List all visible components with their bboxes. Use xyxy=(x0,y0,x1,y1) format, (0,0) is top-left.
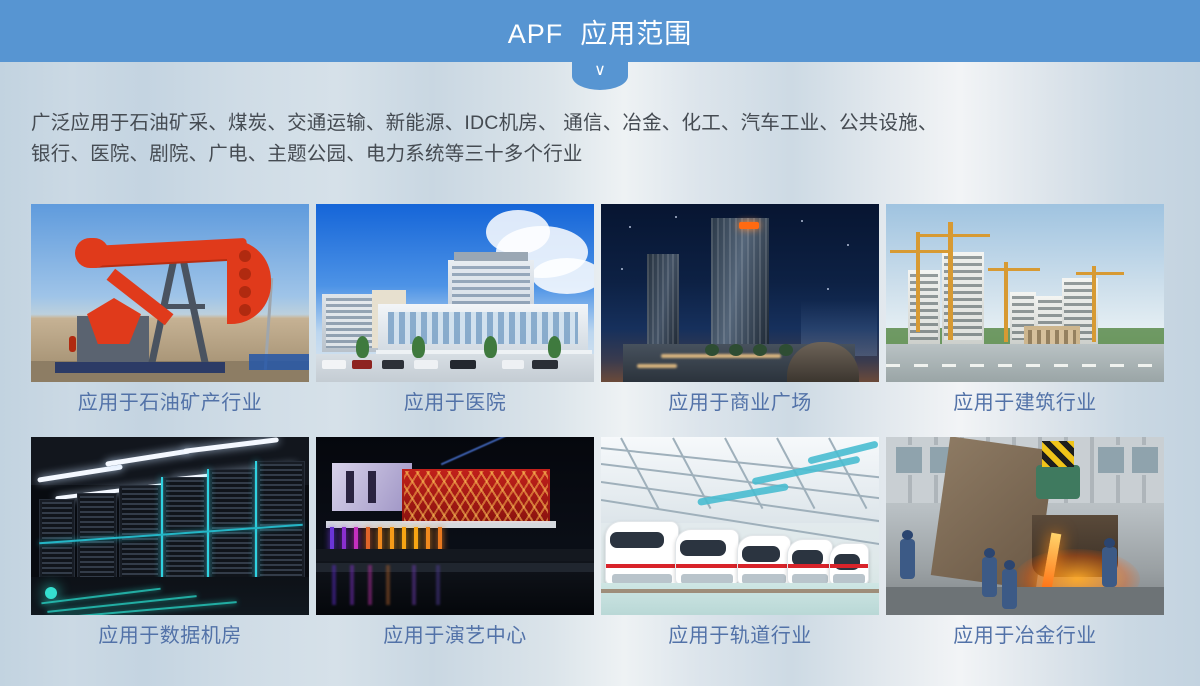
gallery-item-data-center[interactable] xyxy=(31,437,309,615)
oil-pumpjack-photo xyxy=(31,204,309,382)
gallery-caption: 应用于石油矿产行业 xyxy=(31,386,309,415)
intro-line-2: 银行、医院、剧院、广电、主题公园、电力系统等三十多个行业 xyxy=(31,139,1181,170)
gallery-item-arts-center[interactable] xyxy=(316,437,594,615)
gallery-caption: 应用于冶金行业 xyxy=(886,619,1164,648)
page-header: APF 应用范围 xyxy=(0,0,1200,62)
application-scope-page: APF 应用范围 ∨ 广泛应用于石油矿采、煤炭、交通运输、新能源、IDC机房、 … xyxy=(0,0,1200,686)
gallery-caption: 应用于商业广场 xyxy=(601,386,879,415)
gallery-item-hospital[interactable] xyxy=(316,204,594,382)
page-title: APF 应用范围 xyxy=(0,0,1200,62)
data-center-racks-photo xyxy=(31,437,309,615)
gallery-item-oil[interactable] xyxy=(31,204,309,382)
intro-line-1: 广泛应用于石油矿采、煤炭、交通运输、新能源、IDC机房、 通信、冶金、化工、汽车… xyxy=(31,108,1181,139)
intro-paragraph: 广泛应用于石油矿采、煤炭、交通运输、新能源、IDC机房、 通信、冶金、化工、汽车… xyxy=(31,108,1181,170)
gallery-caption: 应用于演艺中心 xyxy=(316,619,594,648)
night-office-towers-photo xyxy=(601,204,879,382)
gallery-item-construction[interactable] xyxy=(886,204,1164,382)
gallery-row: 应用于石油矿产行业 应用于医院 应用于商业广场 应用于建筑行业 xyxy=(0,196,1200,429)
application-gallery: 应用于石油矿产行业 应用于医院 应用于商业广场 应用于建筑行业 xyxy=(0,196,1200,662)
chevron-down-badge[interactable]: ∨ xyxy=(572,62,628,90)
foundry-molten-metal-photo xyxy=(886,437,1164,615)
gallery-item-commercial-plaza[interactable] xyxy=(601,204,879,382)
performing-arts-center-photo xyxy=(316,437,594,615)
gallery-caption: 应用于医院 xyxy=(316,386,594,415)
gallery-caption: 应用于数据机房 xyxy=(31,619,309,648)
metro-train-depot-photo xyxy=(601,437,879,615)
gallery-caption: 应用于建筑行业 xyxy=(886,386,1164,415)
construction-site-photo xyxy=(886,204,1164,382)
gallery-caption: 应用于轨道行业 xyxy=(601,619,879,648)
hospital-building-photo xyxy=(316,204,594,382)
gallery-item-metallurgy[interactable] xyxy=(886,437,1164,615)
gallery-row: 应用于数据机房 应用于演艺中心 应用于轨道行业 应用于冶金行业 xyxy=(0,429,1200,662)
chevron-down-icon: ∨ xyxy=(594,63,606,79)
gallery-item-rail-transit[interactable] xyxy=(601,437,879,615)
